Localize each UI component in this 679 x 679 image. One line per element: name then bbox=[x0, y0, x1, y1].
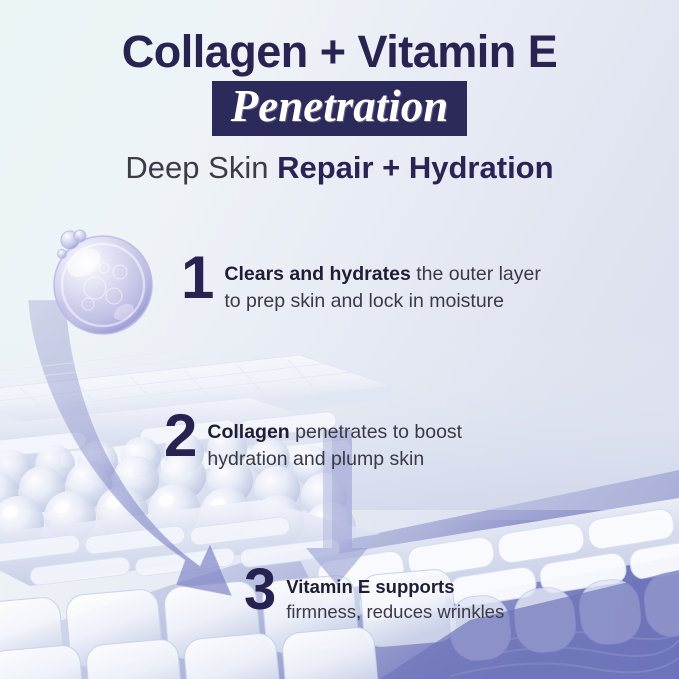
subtitle: Deep Skin Repair + Hydration bbox=[0, 150, 679, 186]
step-item-3: 3 Vitamin E supports firmness, reduces w… bbox=[244, 565, 504, 624]
headline-block: Collagen + Vitamin E Penetration Deep Sk… bbox=[0, 0, 679, 186]
step-item-1: 1 Clears and hydrates the outer layer to… bbox=[181, 252, 541, 314]
step-3-line-1: Vitamin E supports bbox=[286, 574, 504, 599]
step-text-1: Clears and hydrates the outer layer to p… bbox=[224, 252, 541, 314]
step-1-rest: the outer layer bbox=[411, 263, 541, 285]
step-1-line-2: to prep skin and lock in moisture bbox=[224, 288, 541, 315]
step-number-2: 2 bbox=[164, 410, 195, 462]
step-number-1: 1 bbox=[181, 252, 212, 304]
step-item-2: 2 Collagen penetrates to boost hydration… bbox=[164, 410, 462, 472]
subtitle-light-part: Deep Skin bbox=[125, 150, 277, 185]
step-3-bold: Vitamin E supports bbox=[286, 576, 454, 597]
step-1-bold: Clears and hydrates bbox=[224, 263, 410, 285]
poster-canvas: Collagen + Vitamin E Penetration Deep Sk… bbox=[0, 0, 679, 679]
step-text-2: Collagen penetrates to boost hydration a… bbox=[207, 410, 462, 472]
step-number-3: 3 bbox=[244, 565, 274, 615]
banner-word: Penetration bbox=[231, 81, 449, 131]
step-2-line-1: Collagen penetrates to boost bbox=[207, 419, 462, 446]
subtitle-bold-part: Repair + Hydration bbox=[277, 150, 554, 185]
step-1-line-1: Clears and hydrates the outer layer bbox=[224, 261, 541, 288]
step-2-rest: penetrates to boost bbox=[290, 421, 462, 443]
step-2-line-2: hydration and plump skin bbox=[207, 446, 462, 473]
serum-droplet bbox=[54, 230, 152, 334]
penetration-banner: Penetration bbox=[212, 81, 468, 136]
step-text-3: Vitamin E supports firmness, reduces wri… bbox=[286, 565, 504, 624]
step-2-bold: Collagen bbox=[207, 421, 289, 443]
page-title: Collagen + Vitamin E bbox=[0, 0, 679, 75]
step-3-line-2: firmness, reduces wrinkles bbox=[286, 599, 504, 624]
